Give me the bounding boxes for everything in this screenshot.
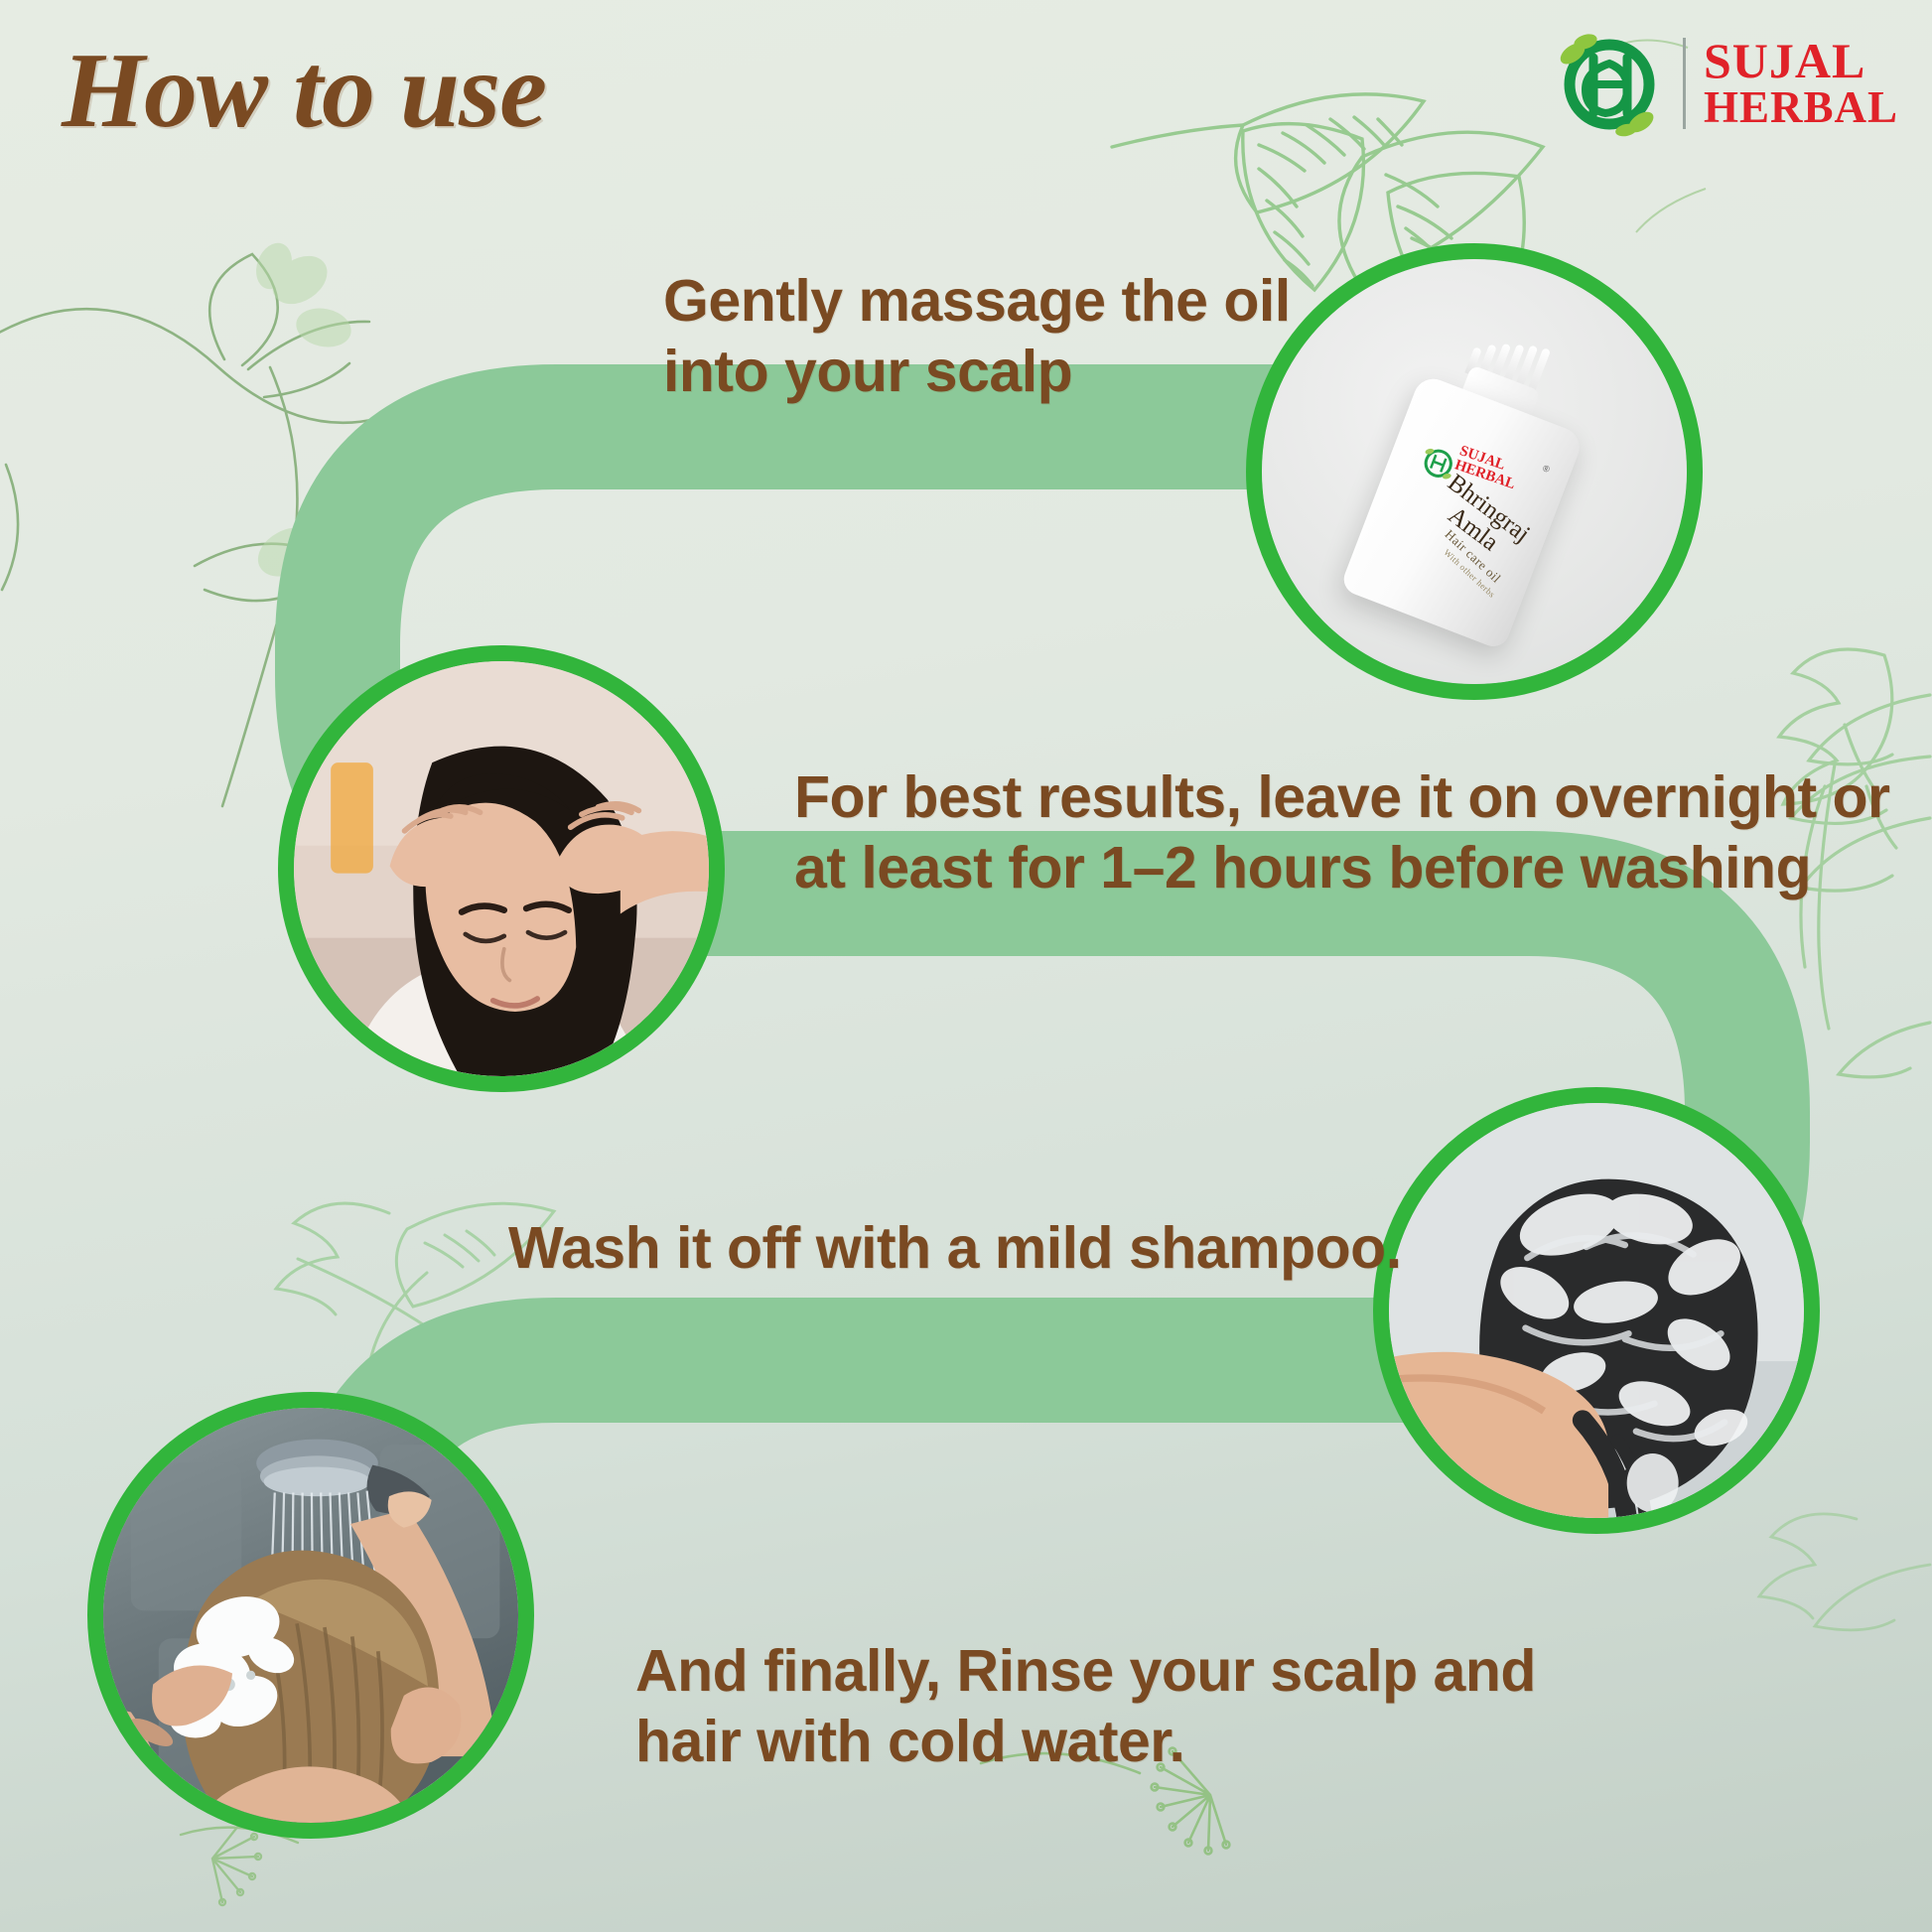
logo-wordmark: SUJAL HERBAL	[1704, 37, 1898, 129]
step-1-line-2: into your scalp	[663, 337, 1299, 407]
logo-line-sujal: SUJAL	[1704, 37, 1898, 85]
step-3-line-1: Wash it off with a mild shampoo.	[508, 1213, 1402, 1284]
scalp-massage-photo	[294, 661, 709, 1076]
step-2-line-2: at least for 1–2 hours before washing	[794, 833, 1837, 903]
logo-line-herbal: HERBAL	[1704, 85, 1898, 129]
step-4-line-2: hair with cold water.	[635, 1707, 1469, 1777]
brand-logo: SUJAL HERBAL	[1554, 28, 1898, 139]
page-title: How to use	[62, 30, 546, 153]
step-3-image-circle	[1373, 1087, 1820, 1534]
step-1-line-1: Gently massage the oil	[663, 266, 1299, 337]
step-3-text: Wash it off with a mild shampoo.	[508, 1213, 1402, 1284]
step-2-image-circle	[278, 645, 725, 1092]
shower-rinse-photo	[103, 1408, 518, 1823]
step-1-text: Gently massage the oil into your scalp	[663, 266, 1299, 407]
shower-rinse-illustration	[103, 1408, 518, 1823]
infographic-poster: SUJAL HERBAL ® Bhringraj Amla Hair care …	[0, 0, 1932, 1932]
sujal-herbal-monogram-icon	[1554, 28, 1665, 139]
product-bottle-photo: SUJAL HERBAL ® Bhringraj Amla Hair care …	[1262, 259, 1687, 684]
shampoo-lather-illustration	[1389, 1103, 1804, 1518]
step-4-image-circle	[87, 1392, 534, 1839]
shampoo-lather-photo	[1389, 1103, 1804, 1518]
oil-bottle-illustration: SUJAL HERBAL ® Bhringraj Amla Hair care …	[1339, 310, 1609, 650]
logo-divider	[1683, 38, 1686, 129]
step-4-text: And finally, Rinse your scalp and hair w…	[635, 1636, 1469, 1777]
step-2-text: For best results, leave it on overnight …	[794, 762, 1837, 903]
scalp-massage-illustration	[294, 661, 709, 1076]
step-1-image-circle: SUJAL HERBAL ® Bhringraj Amla Hair care …	[1246, 243, 1703, 700]
step-4-line-1: And finally, Rinse your scalp and	[635, 1636, 1469, 1707]
step-2-line-1: For best results, leave it on overnight …	[794, 762, 1837, 833]
